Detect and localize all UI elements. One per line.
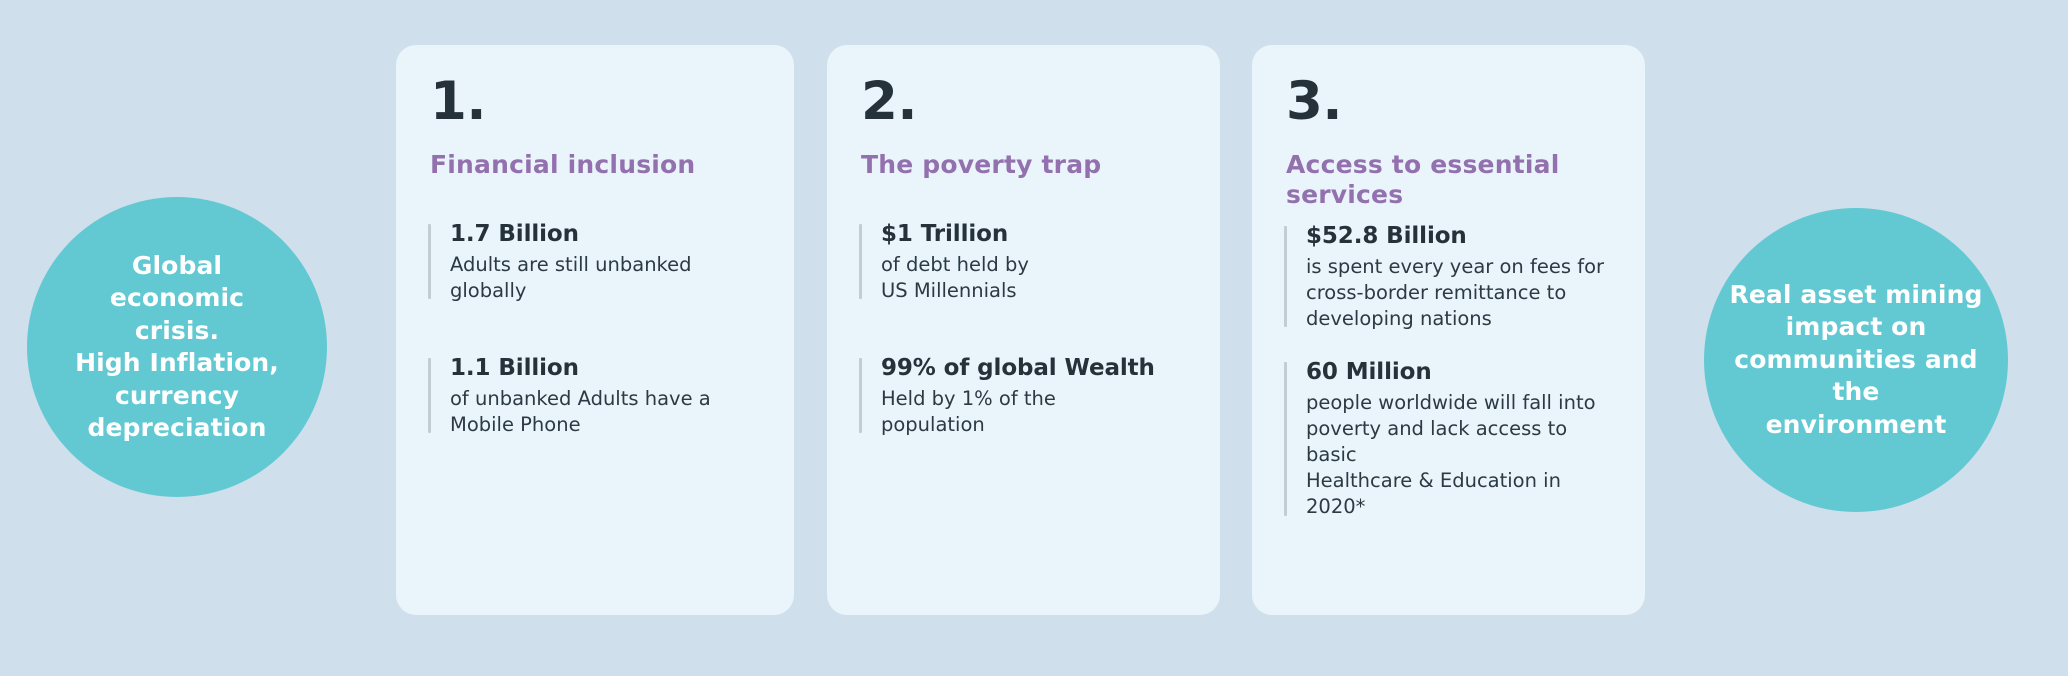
stat-accent-bar [859,224,862,299]
stat-value: 1.1 Billion [450,354,762,383]
card-3-stats: $52.8 Billion is spent every year on fee… [1284,222,1613,521]
card-1-title: Financial inclusion [430,150,762,180]
stat-description: of unbanked Adults have a Mobile Phone [450,386,762,438]
card-2-stats: $1 Trillion of debt held by US Millennia… [859,220,1188,438]
card-1-stats: 1.7 Billion Adults are still unbanked gl… [428,220,762,438]
card-3-number: 3. [1286,75,1613,128]
stat-value: 99% of global Wealth [881,354,1188,383]
stat-accent-bar [1284,362,1287,515]
stat-accent-bar [859,358,862,433]
bubble-right-text: Real asset mining impact on communities … [1722,279,1990,442]
stat-accent-bar [428,358,431,433]
card-2-title: The poverty trap [861,150,1188,180]
stat-item: 60 Million people worldwide will fall in… [1284,358,1613,520]
stat-item: $52.8 Billion is spent every year on fee… [1284,222,1613,332]
stat-description: Adults are still unbanked globally [450,252,762,304]
stat-description: Held by 1% of the population [881,386,1188,438]
stat-item: 1.1 Billion of unbanked Adults have a Mo… [428,354,762,438]
infographic-canvas: Global economic crisis. High Inflation, … [0,0,2068,676]
stat-value: $1 Trillion [881,220,1188,249]
card-financial-inclusion: 1. Financial inclusion 1.7 Billion Adult… [396,45,794,615]
stat-accent-bar [428,224,431,299]
bubble-real-asset-mining-impact: Real asset mining impact on communities … [1704,208,2008,512]
card-poverty-trap: 2. The poverty trap $1 Trillion of debt … [827,45,1220,615]
stat-value: 60 Million [1306,358,1613,387]
stat-accent-bar [1284,226,1287,327]
stat-description: is spent every year on fees for cross-bo… [1306,254,1613,332]
card-2-number: 2. [861,75,1188,128]
stat-item: $1 Trillion of debt held by US Millennia… [859,220,1188,304]
stat-item: 1.7 Billion Adults are still unbanked gl… [428,220,762,304]
stat-value: 1.7 Billion [450,220,762,249]
card-3-title: Access to essential services [1286,150,1613,210]
bubble-left-text: Global economic crisis. High Inflation, … [62,250,292,445]
stat-description: of debt held by US Millennials [881,252,1188,304]
card-access-to-essential-services: 3. Access to essential services $52.8 Bi… [1252,45,1645,615]
stat-description: people worldwide will fall into poverty … [1306,390,1613,521]
stat-item: 99% of global Wealth Held by 1% of the p… [859,354,1188,438]
card-1-number: 1. [430,75,762,128]
stat-value: $52.8 Billion [1306,222,1613,251]
bubble-global-economic-crisis: Global economic crisis. High Inflation, … [27,197,327,497]
